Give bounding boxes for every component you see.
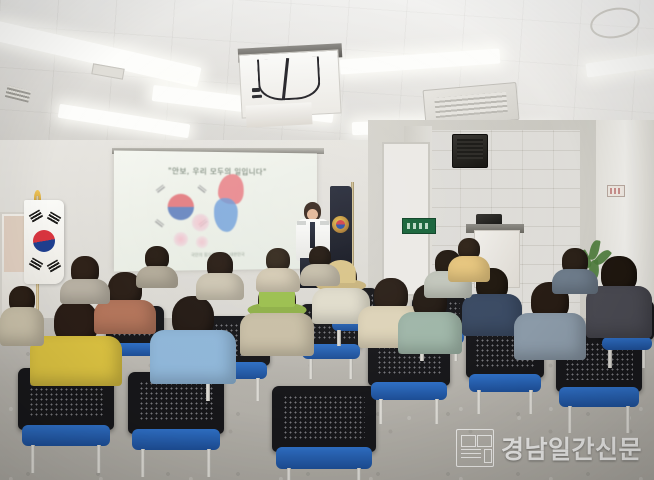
newspaper-logo-icon <box>456 429 494 467</box>
flag-trigram-3 <box>29 258 43 271</box>
presenter-epaulette-right <box>320 221 329 225</box>
torso <box>300 264 340 286</box>
flag-trigram-2 <box>47 212 61 225</box>
chair-seat <box>469 374 541 392</box>
photo-scene: "안보, 우리 모두의 일입니다" 국민의 힘으로 지키는 대한민국 <box>0 0 654 480</box>
slide-trigram-2 <box>197 184 207 194</box>
torso <box>0 307 44 346</box>
attendee-green-hat <box>240 282 314 356</box>
watermark: 경남일간신문 <box>456 424 646 472</box>
torso <box>462 294 522 336</box>
chair-leg-left <box>608 350 612 368</box>
chair-seat <box>602 337 652 351</box>
torso <box>448 256 490 282</box>
chair-leg-left <box>477 390 481 414</box>
slide-trigram-3 <box>155 218 165 228</box>
slide-blossom-2 <box>174 232 188 246</box>
projector-connector-2 <box>252 95 262 99</box>
flag-trigram-1 <box>29 210 43 223</box>
torso <box>514 313 586 360</box>
presenter-epaulette-left <box>297 221 306 225</box>
slide-korean-peninsula-map <box>212 174 246 234</box>
map-south-region <box>214 198 238 232</box>
chair-leg-left <box>31 445 35 474</box>
chair-leg-right <box>435 399 439 424</box>
torso <box>256 268 300 292</box>
chair-leg-left <box>141 449 145 478</box>
chair-leg-left <box>379 399 383 424</box>
chair-leg-right <box>97 445 101 474</box>
slide-blossom-1 <box>192 214 209 231</box>
chair-leg-right <box>207 449 211 478</box>
korean-national-flag <box>24 200 64 284</box>
chair-seat <box>22 425 110 446</box>
chair-leg-right <box>529 390 533 414</box>
chair-leg-right <box>256 378 260 401</box>
torso <box>398 312 462 354</box>
torso <box>552 269 598 294</box>
attendee-front-low <box>300 246 340 286</box>
torso <box>196 273 244 300</box>
attendee-far-right <box>552 248 598 294</box>
projector-connector-1 <box>252 88 260 92</box>
attendee-edge-left <box>0 286 44 346</box>
chair-seat <box>132 429 220 450</box>
chair-front-right[interactable] <box>272 386 376 452</box>
attendee-back-left <box>60 256 110 304</box>
chair-leg-left <box>309 359 313 379</box>
attendee-back-tan <box>256 248 300 292</box>
presenter-tie <box>310 222 315 248</box>
watermark-text: 경남일간신문 <box>501 430 642 466</box>
chair-seat <box>559 387 638 407</box>
chair-leg-right <box>349 359 353 379</box>
chair-leg-left <box>337 330 341 346</box>
chair-seat <box>276 447 372 469</box>
taegeuk-circle-icon <box>33 230 55 252</box>
attendee-blue-top <box>150 296 236 384</box>
torso <box>136 266 178 288</box>
slide-blossom-3 <box>196 236 208 248</box>
chair-leg-left <box>287 468 291 480</box>
chair-seat <box>371 382 446 400</box>
wall-switch-plate[interactable] <box>607 185 625 197</box>
projector-cable <box>257 56 321 101</box>
torso <box>94 300 156 334</box>
torso <box>60 279 110 304</box>
torso <box>240 313 314 356</box>
attendee-mid-row <box>136 246 178 288</box>
projector-body <box>245 102 312 127</box>
chair-mesh <box>283 395 364 439</box>
attendee-back-mid <box>196 252 244 300</box>
torso <box>150 330 236 384</box>
wall-mounted-speaker <box>452 134 488 168</box>
slide-trigram-1 <box>155 183 165 193</box>
chair-back <box>272 386 376 452</box>
chair-mesh <box>139 381 214 422</box>
exit-sign <box>402 218 436 234</box>
chair-leg-right <box>642 350 646 368</box>
attendee-colorful <box>448 238 490 282</box>
slide-taegeukgi-icon <box>168 194 194 220</box>
chair-leg-right <box>357 468 361 480</box>
unit-emblem-icon <box>332 216 349 233</box>
